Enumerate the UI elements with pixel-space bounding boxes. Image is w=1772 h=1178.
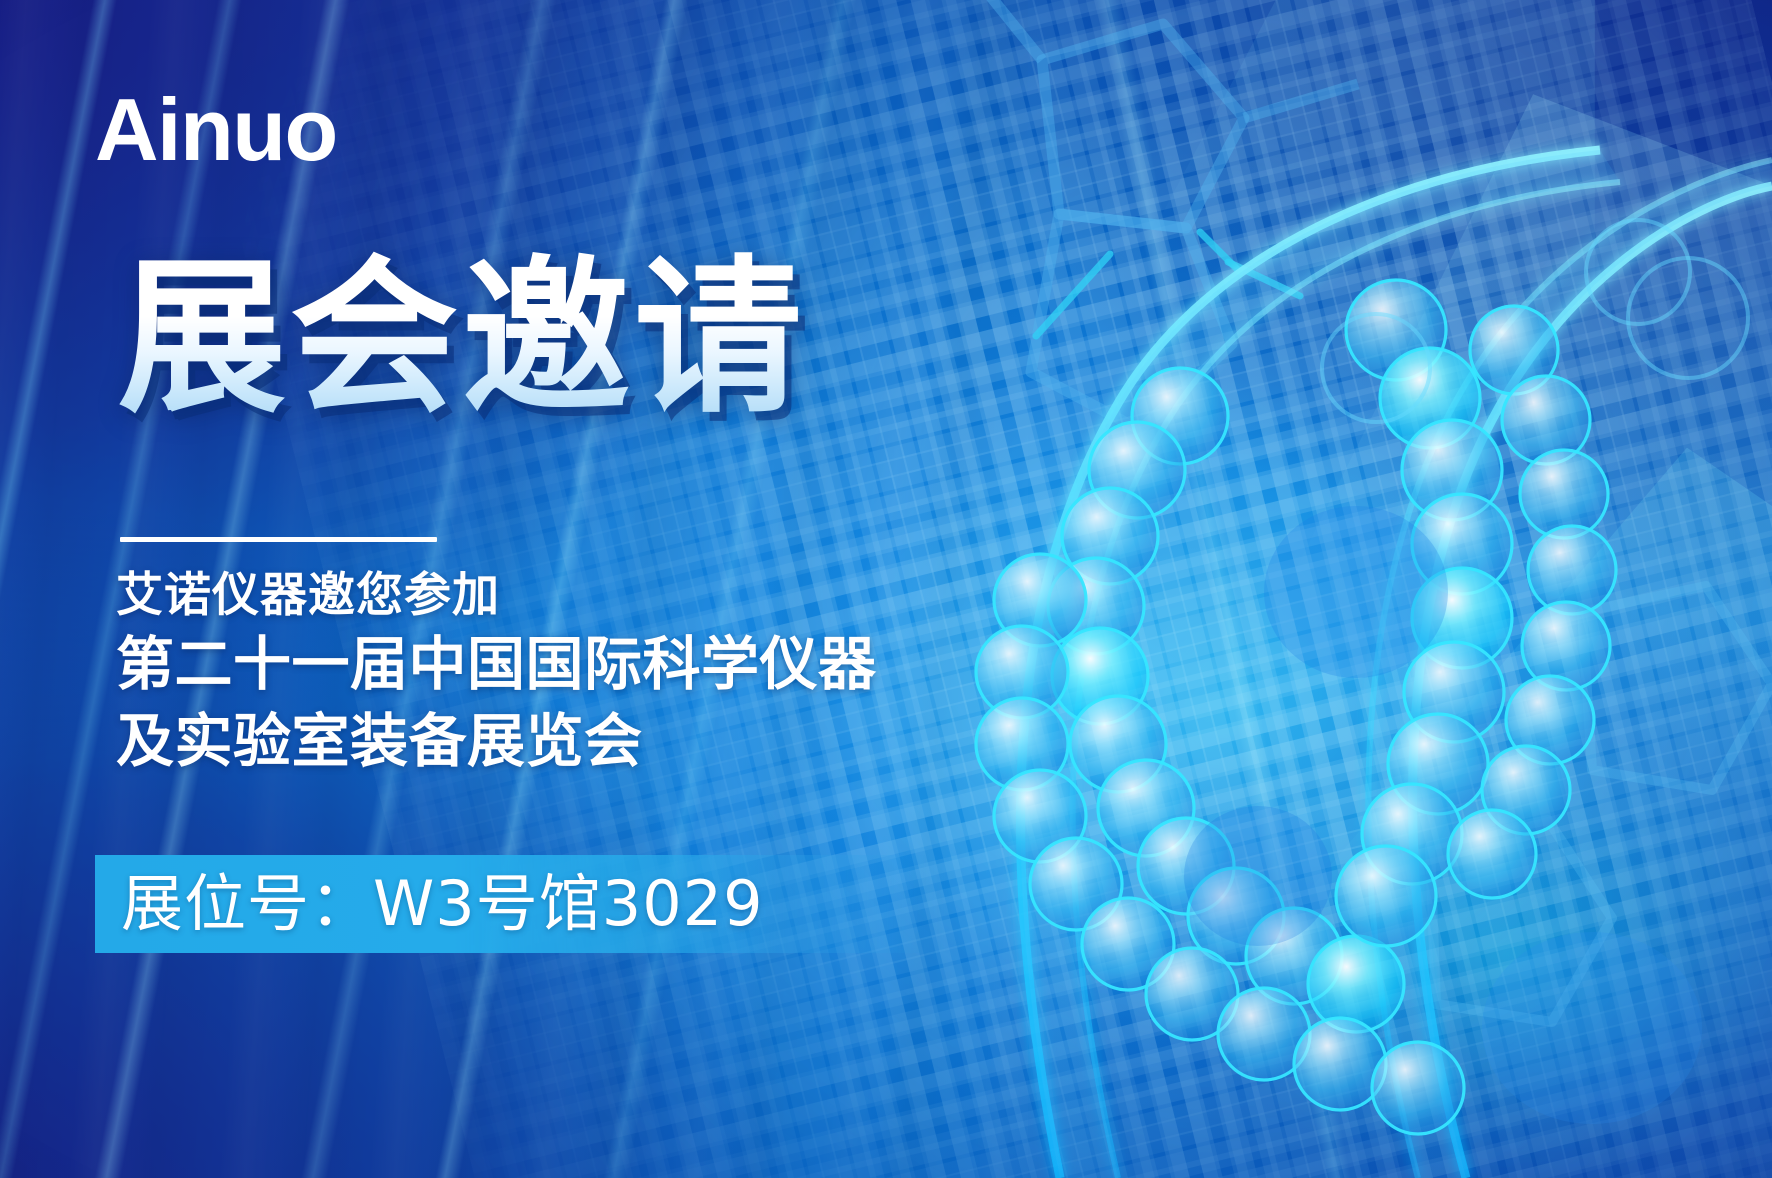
brand-logo: Ainuo — [95, 86, 337, 174]
page-title: 展会邀请 — [118, 248, 806, 429]
subtitle-line-2: 第二十一届中国国际科学仪器 — [116, 626, 877, 703]
subtitle-line-3: 及实验室装备展览会 — [116, 703, 877, 780]
booth-number-banner: 展位号：W3号馆3029 — [95, 855, 950, 953]
subtitle-block: 艾诺仪器邀您参加 第二十一届中国国际科学仪器 及实验室装备展览会 — [116, 566, 877, 779]
title-divider — [120, 537, 437, 542]
booth-number-text: 展位号：W3号馆3029 — [95, 873, 764, 935]
subtitle-line-1: 艾诺仪器邀您参加 — [116, 566, 877, 626]
poster-content: Ainuo 展会邀请 艾诺仪器邀您参加 第二十一届中国国际科学仪器 及实验室装备… — [0, 0, 1772, 1178]
exhibition-invitation-poster: Ainuo 展会邀请 艾诺仪器邀您参加 第二十一届中国国际科学仪器 及实验室装备… — [0, 0, 1772, 1178]
